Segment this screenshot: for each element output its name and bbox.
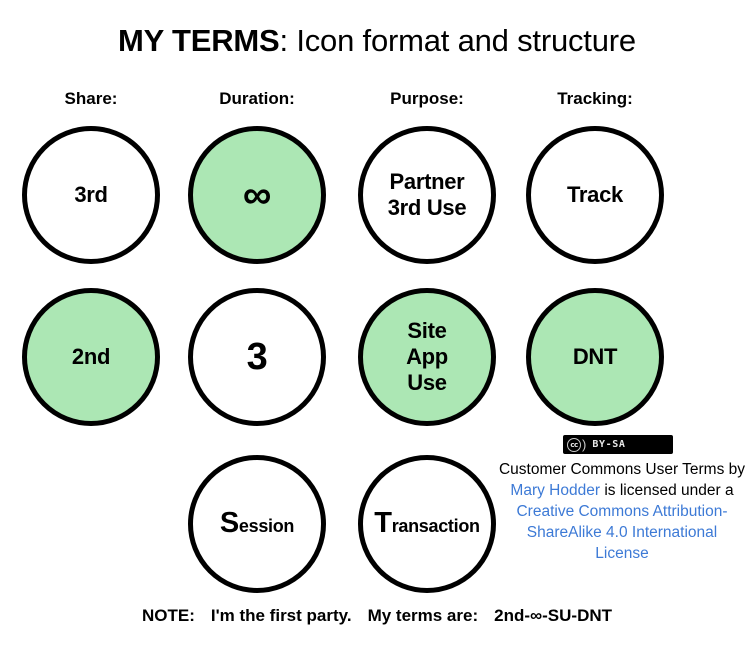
icon-circle-label-capital: S xyxy=(220,507,239,539)
cc-license-code: BY-SA xyxy=(592,439,625,450)
icon-circle-label-rest: ession xyxy=(239,516,294,536)
icon-circle-label-line1: Partner xyxy=(390,169,465,194)
icon-circle-purpose-partner-3rd-use[interactable]: Partner 3rd Use xyxy=(358,126,496,264)
note-terms-label: My terms are: xyxy=(368,606,479,625)
icon-circle-label-rest: ransaction xyxy=(392,516,480,536)
column-header-duration: Duration: xyxy=(167,88,347,110)
icon-circle-duration-3[interactable]: 3 xyxy=(188,288,326,426)
icon-circle-purpose-site-app-use[interactable]: Site App Use xyxy=(358,288,496,426)
column-header-share: Share: xyxy=(1,88,181,110)
icon-circle-label: Partner 3rd Use xyxy=(382,169,473,221)
license-author-link[interactable]: Mary Hodder xyxy=(510,482,600,499)
icon-circle-label: DNT xyxy=(567,344,623,370)
icon-circle-label: 2nd xyxy=(66,344,116,370)
bottom-note: NOTE:I'm the first party.My terms are:2n… xyxy=(0,605,754,627)
icon-circle-label: Session xyxy=(214,512,300,537)
icon-circle-label: ∞ xyxy=(237,175,277,215)
icon-circle-label: Transaction xyxy=(368,512,485,537)
icon-circle-tracking-dnt[interactable]: DNT xyxy=(526,288,664,426)
license-link[interactable]: Creative Commons Attribution-ShareAlike … xyxy=(516,503,727,562)
icon-circle-share-2nd[interactable]: 2nd xyxy=(22,288,160,426)
note-terms-value: 2nd-∞-SU-DNT xyxy=(494,606,612,625)
cc-paren-icon: ) xyxy=(582,438,586,451)
icon-circle-duration-infinity[interactable]: ∞ xyxy=(188,126,326,264)
icon-circle-purpose-transaction[interactable]: Transaction xyxy=(358,455,496,593)
column-header-tracking: Tracking: xyxy=(505,88,685,110)
icon-circle-label-capital: T xyxy=(374,507,391,539)
license-text-2: is licensed under a xyxy=(600,482,734,499)
icon-circle-share-3rd[interactable]: 3rd xyxy=(22,126,160,264)
icon-circle-label-line2: 3rd Use xyxy=(388,195,467,220)
icon-circle-label: Track xyxy=(561,182,629,208)
icon-circle-label: 3 xyxy=(241,337,274,377)
icon-circle-label: 3rd xyxy=(68,182,113,208)
note-party-text: I'm the first party. xyxy=(211,606,352,625)
license-statement: Customer Commons User Terms by Mary Hodd… xyxy=(498,459,746,564)
icon-circle-duration-session[interactable]: Session xyxy=(188,455,326,593)
icon-circle-label-line1: Site xyxy=(407,318,446,343)
page-title: MY TERMS: Icon format and structure xyxy=(0,21,754,61)
icon-circle-label-line3: Use xyxy=(407,370,446,395)
column-header-purpose: Purpose: xyxy=(337,88,517,110)
page-title-rest: : Icon format and structure xyxy=(280,23,636,58)
license-text-1: Customer Commons User Terms by xyxy=(499,461,745,478)
icon-circle-label-line2: App xyxy=(406,344,448,369)
page-title-strong: MY TERMS xyxy=(118,23,279,58)
creative-commons-badge[interactable]: cc ) BY-SA xyxy=(563,435,673,454)
note-label: NOTE: xyxy=(142,606,195,625)
cc-logo-icon: cc xyxy=(567,438,581,452)
icon-circle-tracking-track[interactable]: Track xyxy=(526,126,664,264)
icon-circle-label: Site App Use xyxy=(400,318,454,396)
